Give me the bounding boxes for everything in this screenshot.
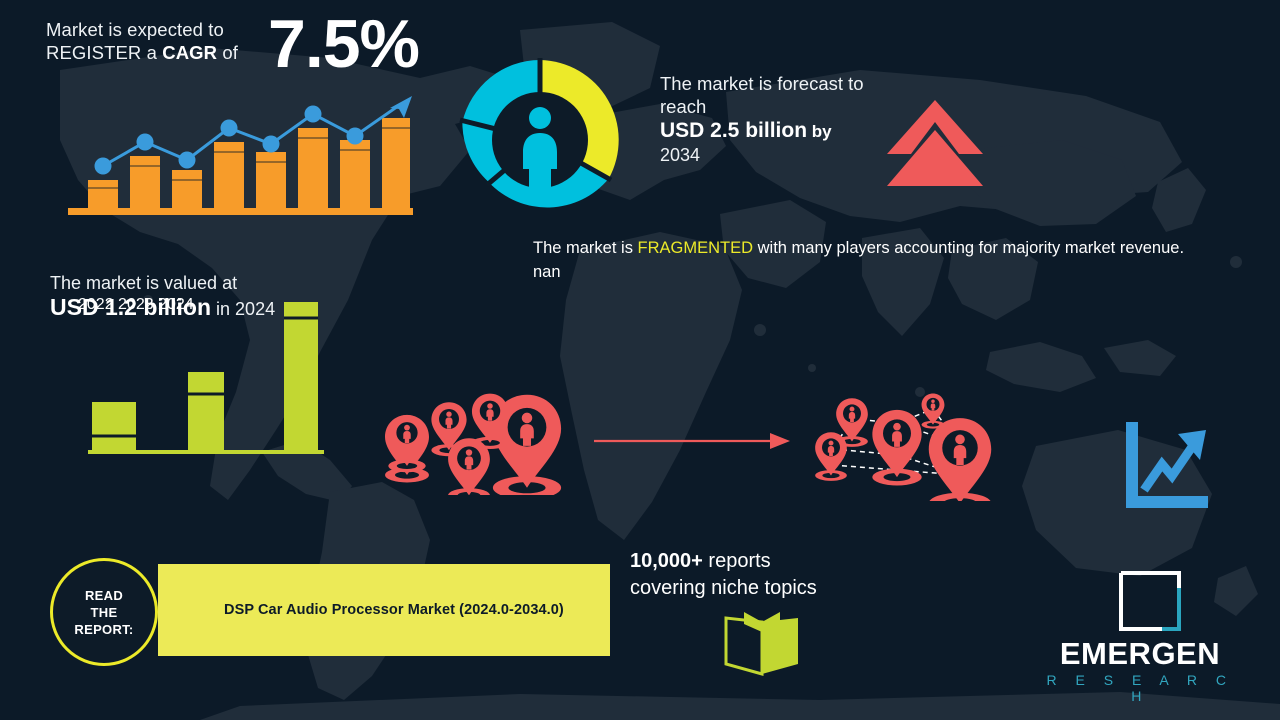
reports-count-block: 10,000+ reports covering niche topics (630, 548, 890, 602)
right-arrow-icon (592, 428, 792, 454)
reports-count: 10,000+ (630, 550, 703, 572)
bar-line-growth-chart-icon (68, 88, 413, 220)
forecast-line1: The market is forecast to (660, 72, 900, 95)
forecast-by: by (807, 122, 832, 141)
forecast-value: USD 2.5 billion (660, 119, 807, 142)
reports-line1: 10,000+ reports (630, 548, 890, 575)
report-title-bar[interactable]: DSP Car Audio Processor Market (2024.0-2… (158, 564, 610, 656)
double-up-chevron-icon (885, 98, 985, 186)
forecast-statement: The market is forecast to reach USD 2.5 … (660, 72, 900, 166)
cagr-value: 7.5% (268, 10, 419, 78)
growth-chart-baseline (68, 208, 413, 215)
scattered-map-pins-icon (380, 385, 590, 495)
report-title: DSP Car Audio Processor Market (2024.0-2… (224, 602, 564, 618)
forecast-line2: reach (660, 95, 900, 118)
map-pin (922, 393, 945, 428)
growth-trend-arrowhead (390, 96, 412, 118)
cagr-lead-line1: Market is expected to (46, 19, 224, 40)
cagr-word-bold: CAGR (162, 42, 217, 63)
cagr-lead-text: Market is expected to REGISTER a CAGR of (46, 18, 276, 64)
year-chart-bars (92, 302, 318, 450)
map-pin (815, 432, 847, 481)
map-pin (929, 418, 991, 501)
map-pin (448, 438, 490, 495)
infographic-canvas: Market is expected to REGISTER a CAGR of… (0, 0, 1280, 720)
cta-line3: REPORT: (74, 622, 133, 637)
donut-person-chart-icon (455, 55, 625, 225)
market-value-by-year-chart (78, 296, 338, 471)
valuation-lead: The market is valued at (50, 272, 380, 294)
trend-up-chart-icon (1120, 420, 1210, 510)
cagr-headline: Market is expected to REGISTER a CAGR of… (46, 18, 466, 64)
logo-name: EMERGEN (1040, 636, 1240, 672)
forecast-year: 2034 (660, 144, 900, 166)
connected-map-pins-network-icon (805, 383, 1020, 501)
emergen-research-logo: EMERGEN R E S E A R C H (1040, 570, 1240, 705)
reports-line2: covering niche topics (630, 575, 890, 602)
fragmentation-statement: The market is FRAGMENTED with many playe… (533, 236, 1213, 284)
square-frame-logo-mark (1118, 570, 1182, 632)
trend-line (1144, 444, 1194, 490)
fragmented-highlight: FRAGMENTED (638, 239, 754, 257)
reports-count-suffix: reports (703, 550, 771, 572)
read-report-cta: READ THE REPORT: (74, 587, 133, 638)
map-pin (388, 415, 425, 472)
fragmented-pre: The market is (533, 239, 638, 257)
cagr-lead-line2-pre: REGISTER a (46, 42, 162, 63)
cta-line2: THE (91, 605, 118, 620)
cagr-lead-line2-post: of (217, 42, 238, 63)
cta-line1: READ (85, 588, 123, 603)
read-report-badge[interactable]: READ THE REPORT: (50, 558, 158, 666)
read-report-banner[interactable]: DSP Car Audio Processor Market (2024.0-2… (50, 558, 562, 663)
logo-subtitle: R E S E A R C H (1040, 672, 1240, 704)
year-chart-baseline (88, 450, 324, 454)
open-book-icon (722, 610, 802, 676)
map-pin (872, 410, 921, 486)
